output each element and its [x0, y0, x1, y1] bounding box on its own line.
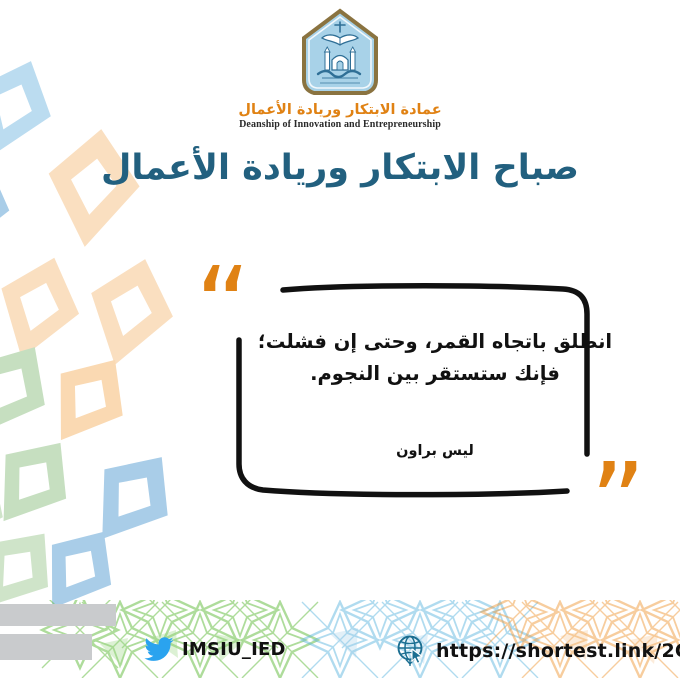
decor-gray-block-1: [0, 604, 116, 626]
quote-author: ليس براون: [215, 443, 655, 459]
website-url-label: https://shortest.link/2CIX: [436, 640, 680, 662]
page-title: صباح الابتكار وريادة الأعمال: [0, 148, 680, 188]
quote-text: انطلق باتجاه القمر، وحتى إن فشلت؛ فإنك س…: [215, 326, 655, 389]
quote-line-1: انطلق باتجاه القمر، وحتى إن فشلت؛: [215, 326, 655, 358]
twitter-handle-item[interactable]: IMSIU_IED: [144, 637, 286, 662]
org-name-english: Deanship of Innovation and Entrepreneurs…: [0, 119, 680, 130]
decor-gray-block-2: [0, 634, 92, 660]
emblem-wrap: [0, 8, 680, 100]
quote-block: “ ” انطلق باتجاه القمر، وحتى إن فشلت؛ فإ…: [195, 258, 665, 528]
quote-mark-close-icon: ”: [590, 450, 646, 558]
website-link-item[interactable]: https://shortest.link/2CIX: [396, 634, 680, 668]
brand-header: عمادة الابتكار وريادة الأعمال Deanship o…: [0, 8, 680, 130]
globe-cursor-icon: [396, 634, 428, 668]
twitter-bird-icon: [144, 637, 174, 662]
quote-card: عمادة الابتكار وريادة الأعمال Deanship o…: [0, 0, 680, 678]
imsiu-university-emblem: [298, 8, 382, 100]
quote-line-2: فإنك ستستقر بين النجوم.: [215, 358, 655, 390]
org-name-arabic: عمادة الابتكار وريادة الأعمال: [0, 102, 680, 118]
twitter-handle-label: IMSIU_IED: [182, 639, 286, 660]
